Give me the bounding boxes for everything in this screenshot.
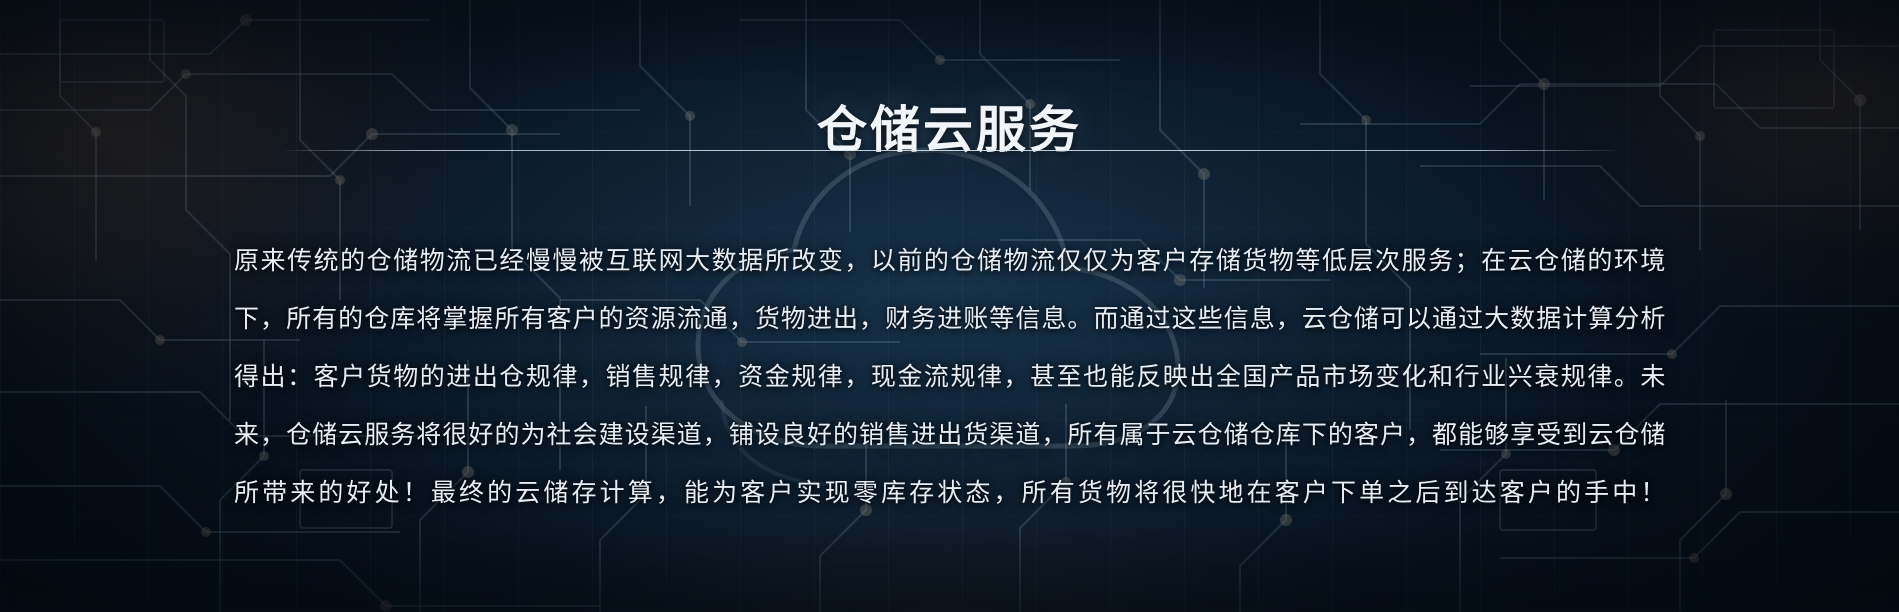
page-banner: 仓储云服务 原来传统的仓储物流已经慢慢被互联网大数据所改变，以前的仓储物流仅仅为… [0,0,1899,612]
title-divider [285,150,1615,151]
body-paragraph: 原来传统的仓储物流已经慢慢被互联网大数据所改变，以前的仓储物流仅仅为客户存储货物… [234,232,1666,580]
